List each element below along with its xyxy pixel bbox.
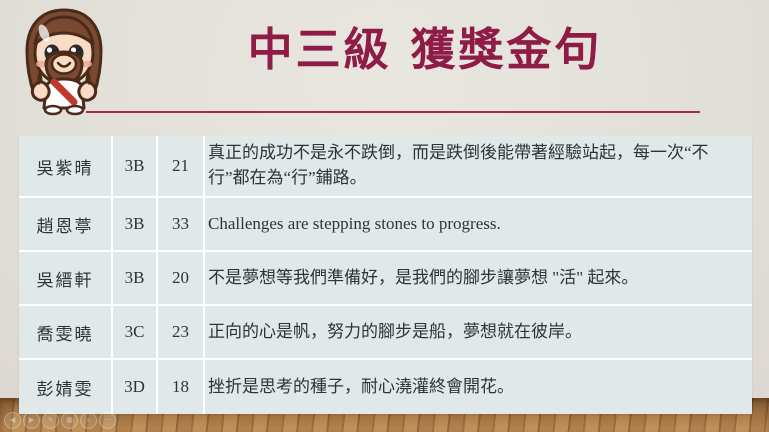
table-row: 趙恩葶 3B 33 Challenges are stepping stones…: [19, 198, 752, 252]
student-class: 3B: [113, 198, 158, 252]
pen-icon[interactable]: ✎: [42, 412, 59, 429]
jesus-mascot-illustration: [12, 6, 116, 118]
student-class: 3B: [113, 252, 158, 306]
zoom-icon[interactable]: ⌕: [80, 412, 97, 429]
student-quote: 正向的心是帆，努力的腳步是船，夢想就在彼岸。: [205, 306, 752, 360]
student-name: 吳紫晴: [19, 136, 113, 198]
student-number: 21: [158, 136, 205, 198]
student-quote: 真正的成功不是永不跌倒，而是跌倒後能帶著經驗站起，每一次“不行”都在為“行”鋪路…: [205, 136, 752, 198]
student-class: 3C: [113, 306, 158, 360]
next-slide-icon[interactable]: ▶: [23, 412, 40, 429]
student-class: 3B: [113, 136, 158, 198]
student-quote: Challenges are stepping stones to progre…: [205, 198, 752, 252]
student-number: 33: [158, 198, 205, 252]
student-number: 20: [158, 252, 205, 306]
award-quotes-table: 吳紫晴 3B 21 真正的成功不是永不跌倒，而是跌倒後能帶著經驗站起，每一次“不…: [19, 136, 752, 414]
title-underline-rule: [86, 111, 700, 113]
table-row: 彭婧雯 3D 18 挫折是思考的種子，耐心澆灌終會開花。: [19, 360, 752, 414]
all-slides-icon[interactable]: ▦: [61, 412, 78, 429]
presenter-controls-bar[interactable]: ◀ ▶ ✎ ▦ ⌕ ⋯: [4, 412, 116, 429]
jesus-mascot-icon: [12, 6, 116, 118]
previous-slide-icon[interactable]: ◀: [4, 412, 21, 429]
student-number: 18: [158, 360, 205, 414]
quotes-table-body: 吳紫晴 3B 21 真正的成功不是永不跌倒，而是跌倒後能帶著經驗站起，每一次“不…: [19, 136, 752, 414]
student-class: 3D: [113, 360, 158, 414]
student-number: 23: [158, 306, 205, 360]
student-name: 喬雯曉: [19, 306, 113, 360]
slide-title: 中三級 獲獎金句: [125, 22, 725, 78]
student-quote: 不是夢想等我們準備好，是我們的腳步讓夢想 "活" 起來。: [205, 252, 752, 306]
student-name: 吳縉軒: [19, 252, 113, 306]
more-options-icon[interactable]: ⋯: [99, 412, 116, 429]
table-row: 吳縉軒 3B 20 不是夢想等我們準備好，是我們的腳步讓夢想 "活" 起來。: [19, 252, 752, 306]
table-row: 吳紫晴 3B 21 真正的成功不是永不跌倒，而是跌倒後能帶著經驗站起，每一次“不…: [19, 136, 752, 198]
presentation-slide: 中三級 獲獎金句 吳紫晴 3B 21 真正的成功不是永不跌倒，而是跌倒後能帶著經…: [0, 0, 769, 432]
student-name: 趙恩葶: [19, 198, 113, 252]
student-quote: 挫折是思考的種子，耐心澆灌終會開花。: [205, 360, 752, 414]
table-row: 喬雯曉 3C 23 正向的心是帆，努力的腳步是船，夢想就在彼岸。: [19, 306, 752, 360]
student-name: 彭婧雯: [19, 360, 113, 414]
